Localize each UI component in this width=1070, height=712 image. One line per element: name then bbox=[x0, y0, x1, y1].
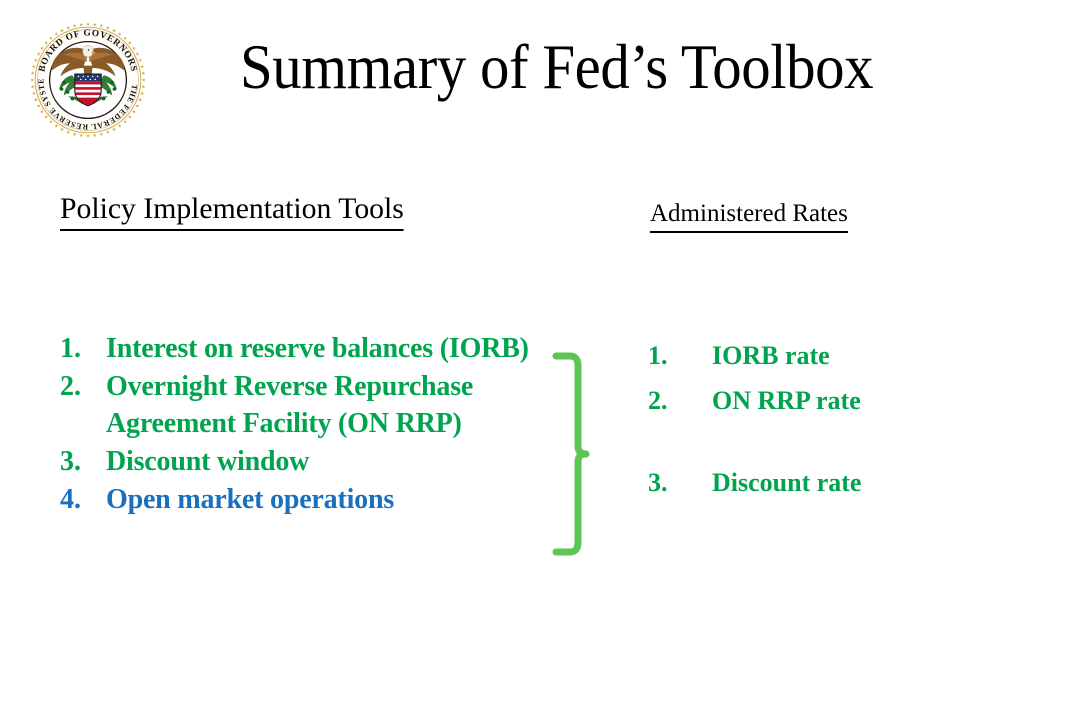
list-item-number: 3. bbox=[648, 465, 712, 500]
list-item: 2. ON RRP rate bbox=[648, 383, 978, 418]
list-item: 1. IORB rate bbox=[648, 338, 978, 373]
list-item: 2. Overnight Reverse Repurchase Agreemen… bbox=[60, 369, 530, 443]
page-title: Summary of Fed’s Toolbox bbox=[240, 32, 976, 102]
left-column-heading: Policy Implementation Tools bbox=[60, 192, 407, 231]
policy-implementation-tools-list: 1. Interest on reserve balances (IORB) 2… bbox=[60, 331, 530, 520]
list-item-label: IORB rate bbox=[712, 338, 978, 373]
list-item-number: 3. bbox=[60, 444, 106, 481]
list-item-number: 1. bbox=[648, 338, 712, 373]
list-item: 3. Discount rate bbox=[648, 465, 978, 500]
federal-reserve-seal: BOARD OF GOVERNORS OF THE FEDERAL RESERV… bbox=[28, 20, 148, 140]
right-curly-brace-icon bbox=[552, 352, 608, 556]
right-column-heading-text: Administered Rates bbox=[650, 200, 848, 233]
list-item: 4. Open market operations bbox=[60, 482, 530, 519]
list-item-label: Discount window bbox=[106, 444, 530, 481]
list-item-number: 4. bbox=[60, 482, 106, 519]
list-item-label: Overnight Reverse Repurchase Agreement F… bbox=[106, 369, 530, 443]
administered-rates-list: 1. IORB rate 2. ON RRP rate 3. Discount … bbox=[648, 338, 978, 510]
list-item-number: 2. bbox=[60, 369, 106, 406]
right-column-heading: Administered Rates bbox=[650, 200, 848, 233]
list-item-label: Open market operations bbox=[106, 482, 530, 519]
list-item-label: ON RRP rate bbox=[712, 383, 978, 418]
list-item: 1. Interest on reserve balances (IORB) bbox=[60, 331, 530, 368]
list-item-number: 2. bbox=[648, 383, 712, 418]
list-item-label: Discount rate bbox=[712, 465, 978, 500]
list-item: 3. Discount window bbox=[60, 444, 530, 481]
list-item-label: Interest on reserve balances (IORB) bbox=[106, 331, 530, 368]
list-item-number: 1. bbox=[60, 331, 106, 368]
left-column-heading-text: Policy Implementation Tools bbox=[60, 192, 404, 231]
